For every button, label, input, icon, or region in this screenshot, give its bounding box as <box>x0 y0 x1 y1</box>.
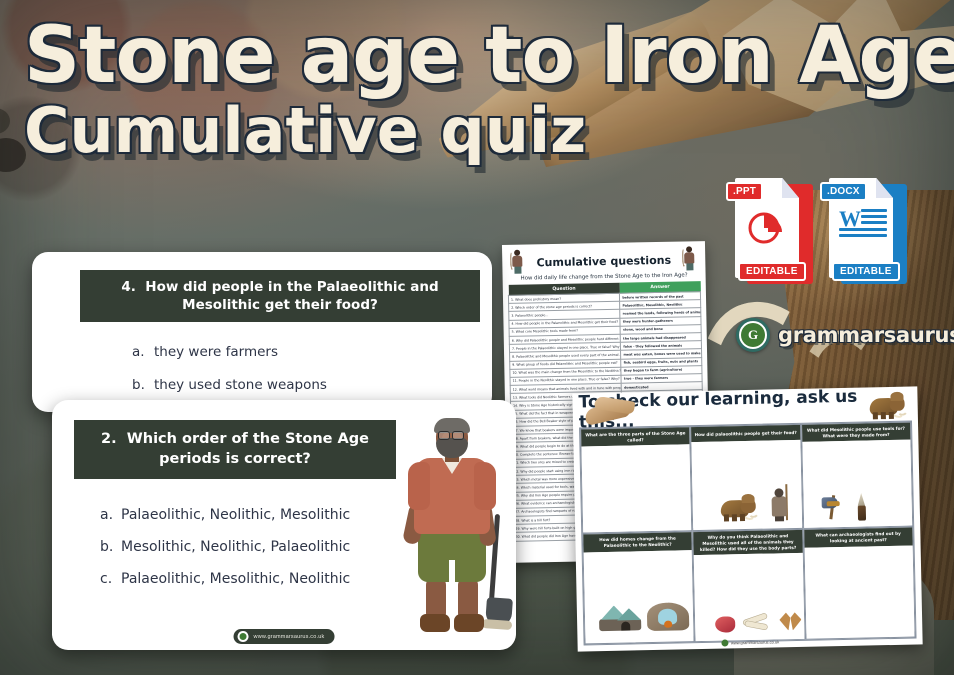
worksheet-cell-question: How did homes change from the Palaeolith… <box>583 533 692 553</box>
mammoth-icon <box>863 391 906 420</box>
worksheet-header: To check our learning, ask us this... <box>578 391 912 428</box>
slide-footer-url: www.grammarsaurus.co.uk <box>254 634 325 640</box>
worksheet-cell-4[interactable]: How did homes change from the Palaeolith… <box>582 531 695 644</box>
bones-clipart-icon <box>743 614 769 633</box>
question-banner: 4. How did people in the Palaeolithic an… <box>80 270 480 322</box>
word-w-icon: W <box>839 208 861 230</box>
docx-file-badge[interactable]: W .DOCX EDITABLE <box>829 178 907 286</box>
brand-logo[interactable]: G grammarsaurus.co.uk <box>736 318 954 352</box>
ppt-extension-label: .PPT <box>726 182 763 201</box>
figure-boot-right <box>454 614 484 632</box>
grammarsaurus-mark-icon: G <box>736 318 770 352</box>
question-banner: 2. Which order of the Stone Age periods … <box>74 420 396 479</box>
answer-options: a. they were farmers b. they used stone … <box>132 344 492 393</box>
docx-editable-label: EDITABLE <box>832 262 900 281</box>
worksheet-cell-question: Why do you think Palaeolithic and Mesoli… <box>694 530 803 555</box>
figure-sleeve-left <box>408 462 430 510</box>
figure-beard <box>436 438 468 458</box>
ppt-editable-label: EDITABLE <box>738 262 806 281</box>
worksheet-footer-logo: www.grammarsaurus.co.uk <box>721 638 779 646</box>
option-letter: c. <box>100 571 113 587</box>
option-letter: b. <box>100 539 113 555</box>
archaeologist-illustration <box>390 418 508 636</box>
meat-clipart-icon <box>715 617 735 633</box>
brand-name: grammarsaurus.co.uk <box>778 323 954 347</box>
docx-text-lines-icon <box>861 209 887 227</box>
hunter-with-spear-icon <box>681 246 698 270</box>
worksheet-grid: What are the three parts of the Stone Ag… <box>579 421 916 646</box>
answer-option[interactable]: a. they were farmers <box>132 344 492 360</box>
figure-boot-left <box>420 614 450 632</box>
slide-footer-badge: www.grammarsaurus.co.uk <box>234 629 335 644</box>
roundhouse-clipart-icon <box>597 603 644 632</box>
quiz-slide-question-4[interactable]: 4. How did people in the Palaeolithic an… <box>32 252 492 412</box>
option-text: they used stone weapons <box>154 377 327 393</box>
file-format-badges: .PPT EDITABLE W .DOCX EDITABLE <box>735 178 907 286</box>
worksheet-cell-1[interactable]: What are the three parts of the Stone Ag… <box>580 426 693 534</box>
cave-clipart-icon <box>647 602 690 631</box>
worksheet-cell-3[interactable]: What did Mesolithic people use tools for… <box>801 422 914 530</box>
option-text: Palaeolithic, Mesolithic, Neolithic <box>121 571 350 587</box>
pie-chart-icon <box>748 208 784 244</box>
option-text: Mesolithic, Neolithic, Palaeolithic <box>121 539 350 555</box>
quiz-slide-question-2[interactable]: 2. Which order of the Stone Age periods … <box>52 400 516 650</box>
worksheet-cell-answer-area[interactable] <box>694 553 804 641</box>
worksheet-cell-answer-area[interactable] <box>584 550 694 638</box>
worksheet-cell-answer-area[interactable] <box>804 545 914 633</box>
flint-blade-clipart-icon <box>855 493 868 521</box>
page-title: Stone age to Iron Age Cumulative quiz <box>24 18 954 164</box>
question-text: How did people in the Palaeolithic and M… <box>145 279 438 313</box>
figure-sleeve-right <box>474 462 496 510</box>
option-letter: b. <box>132 377 145 393</box>
antlers-clipart-icon <box>779 612 803 632</box>
worksheet-cell-answer-area[interactable] <box>581 445 691 533</box>
brand-letter: G <box>741 323 765 347</box>
question-number: 4. <box>121 279 136 295</box>
stone-axe-clipart-icon <box>821 495 843 519</box>
answer-option[interactable]: b. they used stone weapons <box>132 377 492 393</box>
worksheet-cell-answer-area[interactable] <box>802 440 912 528</box>
title-line-secondary: Cumulative quiz <box>24 98 954 163</box>
questions-sheet-title: Cumulative questions <box>536 253 671 269</box>
option-letter: a. <box>132 344 145 360</box>
hunter-with-bow-icon <box>509 250 526 274</box>
option-text: they were farmers <box>154 344 278 360</box>
option-text: Palaeolithic, Neolithic, Mesolithic <box>121 507 350 523</box>
questions-sheet-header: Cumulative questions <box>507 246 700 276</box>
grammarsaurus-mark-icon-small <box>238 631 249 642</box>
option-letter: a. <box>100 507 113 523</box>
hunter-clipart-icon <box>771 488 790 521</box>
worksheet-cell-6[interactable]: What can archaeologists find out by look… <box>803 527 916 640</box>
worksheet-cell-5[interactable]: Why do you think Palaeolithic and Mesoli… <box>693 529 806 642</box>
spade-foot-icon <box>482 619 513 630</box>
worksheet-footer-url: www.grammarsaurus.co.uk <box>731 639 779 645</box>
docx-extension-label: .DOCX <box>820 182 867 201</box>
title-line-primary: Stone age to Iron Age <box>24 18 954 94</box>
glasses-icon-right <box>452 431 464 440</box>
glasses-icon <box>438 431 450 440</box>
worksheet-cell-answer-area[interactable] <box>692 440 802 528</box>
check-learning-worksheet[interactable]: To check our learning, ask us this... Wh… <box>572 386 922 651</box>
worksheet-cell-2[interactable]: How did palaeolithic people get their fo… <box>690 424 803 532</box>
grammarsaurus-mark-icon-tiny <box>721 639 728 646</box>
antler-horn-icon <box>584 398 639 425</box>
question-number: 2. <box>101 431 117 447</box>
docx-text-lines-lower-icon <box>839 228 887 240</box>
question-text: Which order of the Stone Age periods is … <box>127 431 369 467</box>
mammoth-clipart-icon <box>715 493 758 522</box>
figure-shorts-gap <box>449 560 455 582</box>
ppt-file-badge[interactable]: .PPT EDITABLE <box>735 178 813 286</box>
